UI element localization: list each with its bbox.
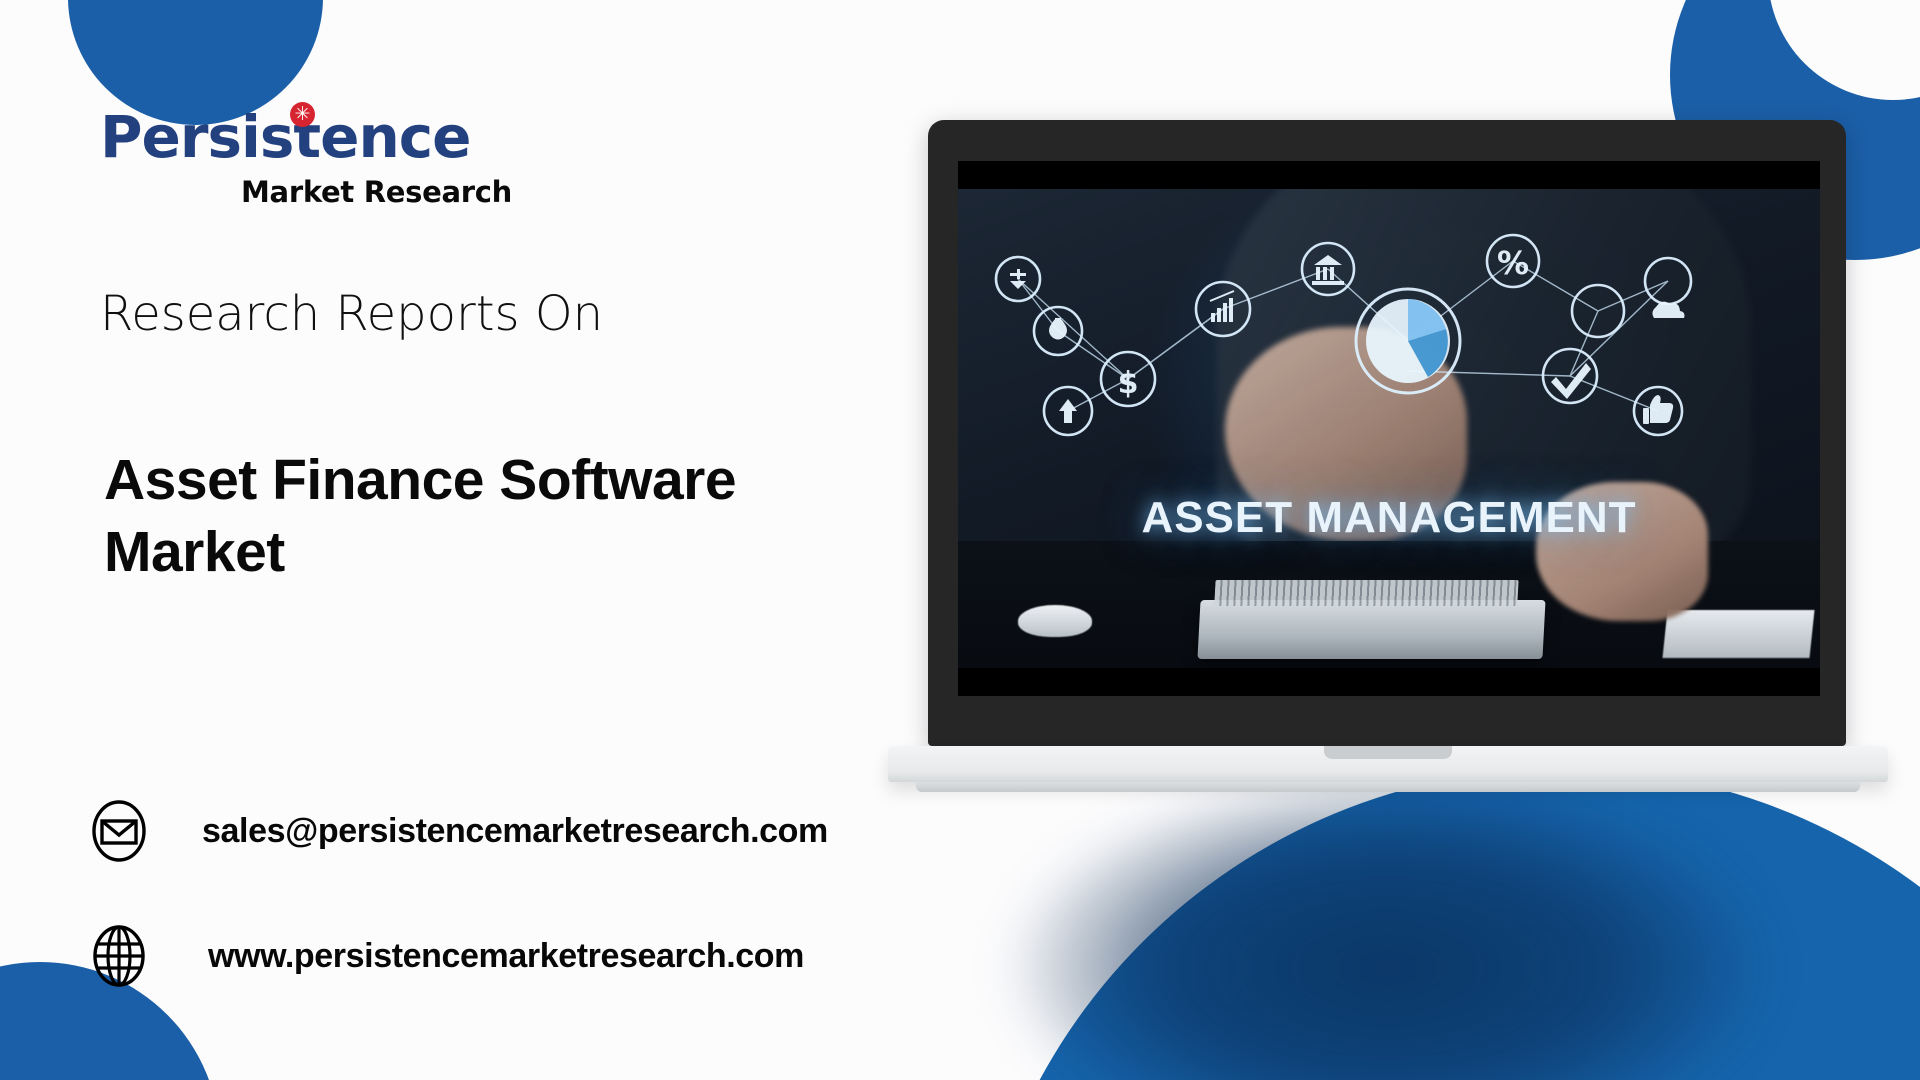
globe-icon xyxy=(88,925,150,987)
laptop-screen: $ xyxy=(958,161,1820,696)
contact-website-label: www.persistencemarketresearch.com xyxy=(208,937,804,976)
laptop-notch xyxy=(1324,746,1452,759)
laptop-base xyxy=(888,746,1888,782)
eyebrow-text: Research Reports On xyxy=(100,288,603,341)
hologram-network: $ xyxy=(958,161,1820,696)
brand-logo: Persistence ✳ Market Research xyxy=(100,108,570,166)
laptop-foot xyxy=(916,782,1860,792)
hologram-svg: $ xyxy=(958,161,1820,696)
page-title: Asset Finance Software Market xyxy=(104,445,864,589)
laptop-mockup: $ xyxy=(928,120,1846,792)
brand-logo-tagline: Market Research xyxy=(241,175,512,209)
svg-text:$: $ xyxy=(1118,366,1139,401)
screen-letterbox-bottom xyxy=(958,668,1820,696)
screen-title: ASSET MANAGEMENT xyxy=(958,493,1820,543)
contact-email-row[interactable]: sales@persistencemarketresearch.com xyxy=(88,800,828,862)
laptop-lid: $ xyxy=(928,120,1846,746)
contact-website-row[interactable]: www.persistencemarketresearch.com xyxy=(88,925,804,987)
envelope-icon xyxy=(88,800,150,862)
svg-text:%: % xyxy=(1497,244,1529,282)
left-content-column: Persistence ✳ Market Research Research R… xyxy=(0,0,980,1080)
brand-logo-badge-icon: ✳ xyxy=(290,102,315,127)
decorative-circle-bottom-right xyxy=(968,768,1920,1080)
contact-email-label: sales@persistencemarketresearch.com xyxy=(202,812,828,851)
brand-logo-word: Persistence xyxy=(100,108,470,166)
screen-letterbox-top xyxy=(958,161,1820,189)
marketing-poster: Persistence ✳ Market Research Research R… xyxy=(0,0,1920,1080)
